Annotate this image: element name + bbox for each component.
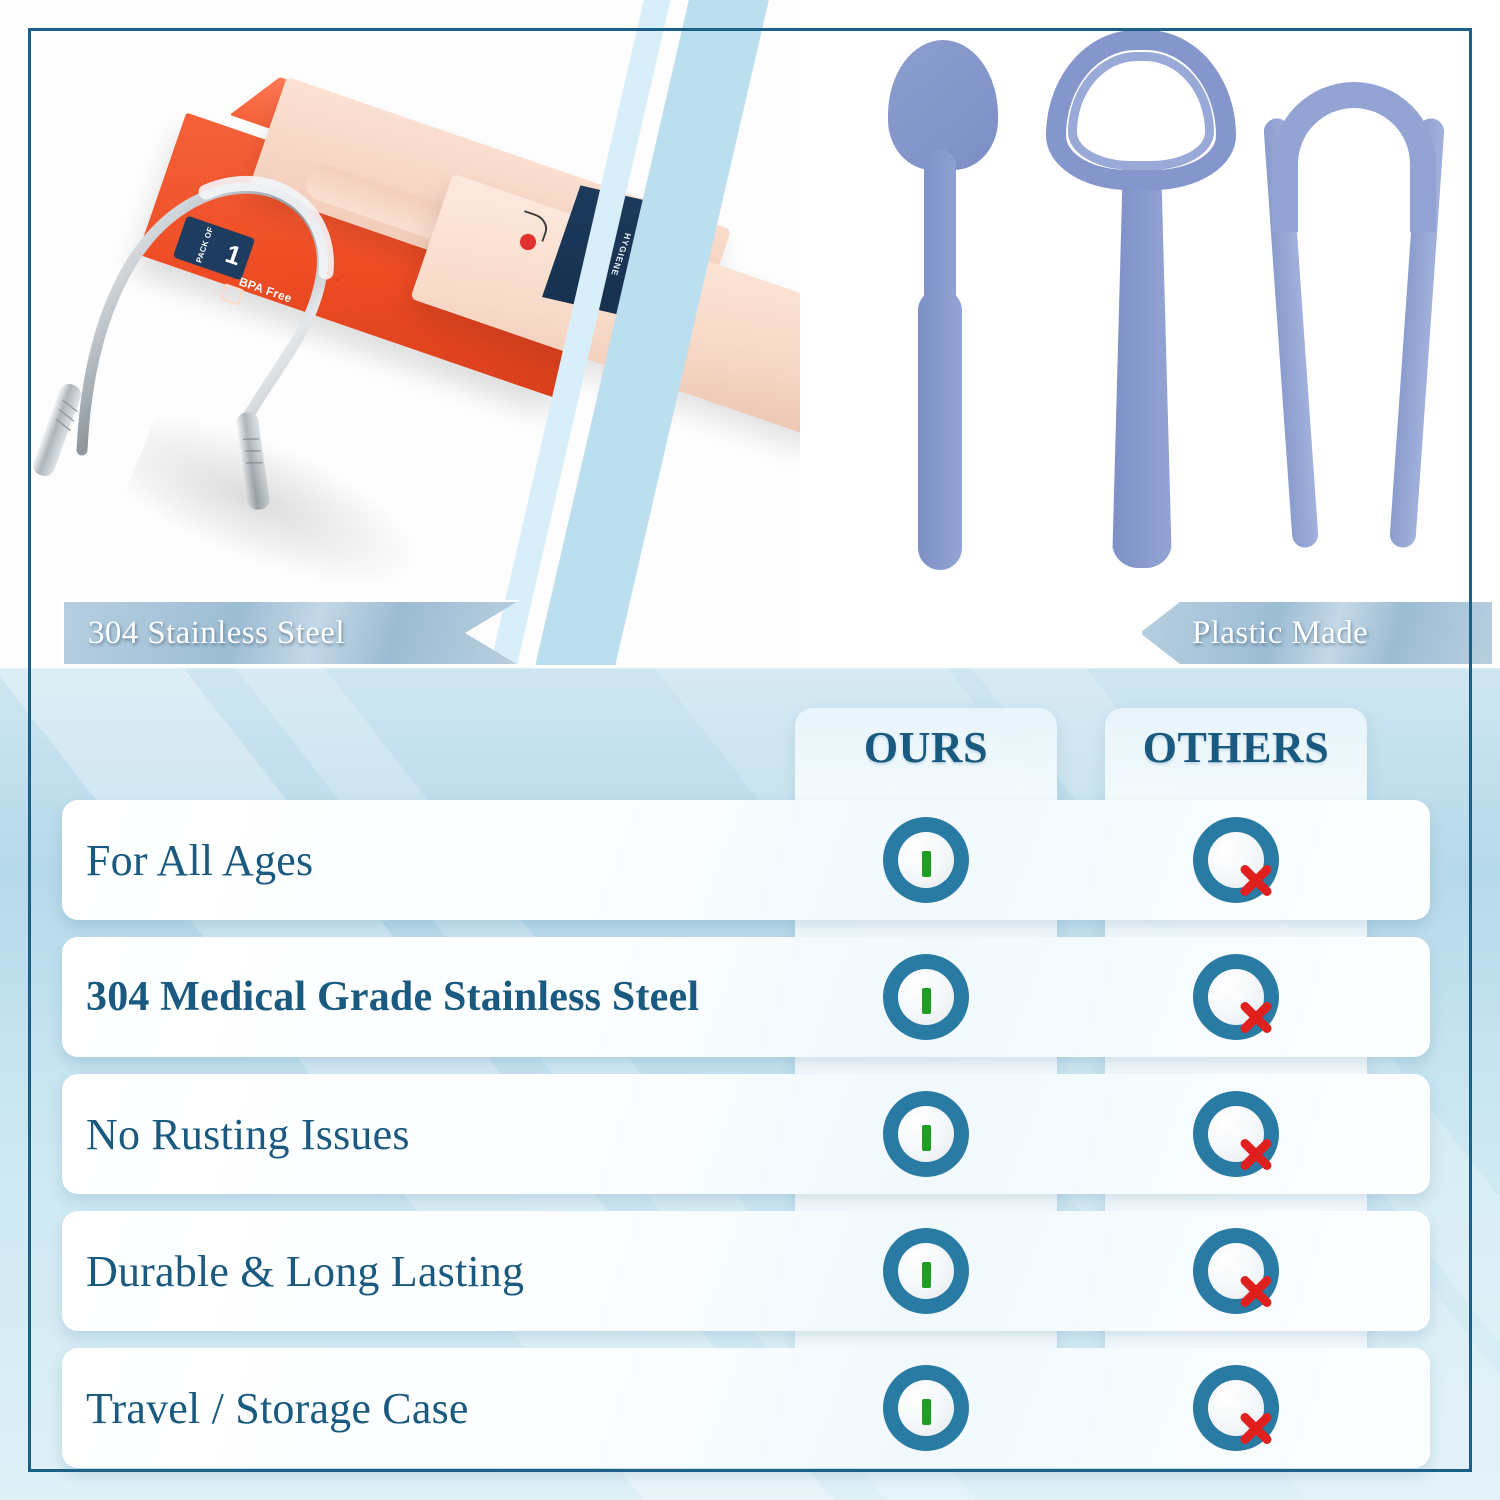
feature-label: Travel / Storage Case: [86, 1348, 469, 1468]
cross-icon: [1193, 1091, 1279, 1177]
check-icon: [883, 954, 969, 1040]
feature-rows: For All Ages 304 Medical Grade Stainless…: [0, 800, 1500, 1485]
product-photo-area: PACK OF 1 BPA Free IMPROVES ORAL HYGIENE…: [0, 0, 1500, 665]
table-row: Durable & Long Lasting: [0, 1211, 1500, 1331]
feature-label: No Rusting Issues: [86, 1074, 410, 1194]
feature-label: For All Ages: [86, 800, 313, 920]
banner-left-label: 304 Stainless Steel: [88, 615, 345, 652]
table-row: Travel / Storage Case: [0, 1348, 1500, 1468]
cross-icon: [1193, 1365, 1279, 1451]
check-icon: [883, 1091, 969, 1177]
cross-icon: [1193, 1228, 1279, 1314]
table-row: No Rusting Issues: [0, 1074, 1500, 1194]
infographic-canvas: PACK OF 1 BPA Free IMPROVES ORAL HYGIENE…: [0, 0, 1500, 1500]
feature-label: 304 Medical Grade Stainless Steel: [86, 937, 699, 1057]
column-header-ours: OURS: [795, 722, 1057, 773]
spoon-neck: [924, 150, 956, 310]
banner-stainless-steel: 304 Stainless Steel: [62, 600, 520, 666]
comparison-table: OURS OTHERS For All Ages 304 Medical Gra…: [0, 700, 1500, 1460]
banner-right-label: Plastic Made: [1192, 615, 1368, 652]
cross-icon: [1193, 817, 1279, 903]
cross-icon: [1193, 954, 1279, 1040]
table-row: For All Ages: [0, 800, 1500, 920]
steel-tongue-scraper: [10, 120, 430, 540]
column-header-others: OTHERS: [1105, 722, 1367, 773]
feature-label: Durable & Long Lasting: [86, 1211, 524, 1331]
loop-handle: [1112, 168, 1172, 568]
banner-plastic-made: Plastic Made: [1140, 600, 1494, 666]
u-bend: [1272, 82, 1436, 232]
check-icon: [883, 1365, 969, 1451]
check-icon: [883, 1228, 969, 1314]
check-icon: [883, 817, 969, 903]
photo-plastic-made: [800, 0, 1500, 665]
table-row: 304 Medical Grade Stainless Steel: [0, 937, 1500, 1057]
spoon-handle: [918, 290, 962, 570]
